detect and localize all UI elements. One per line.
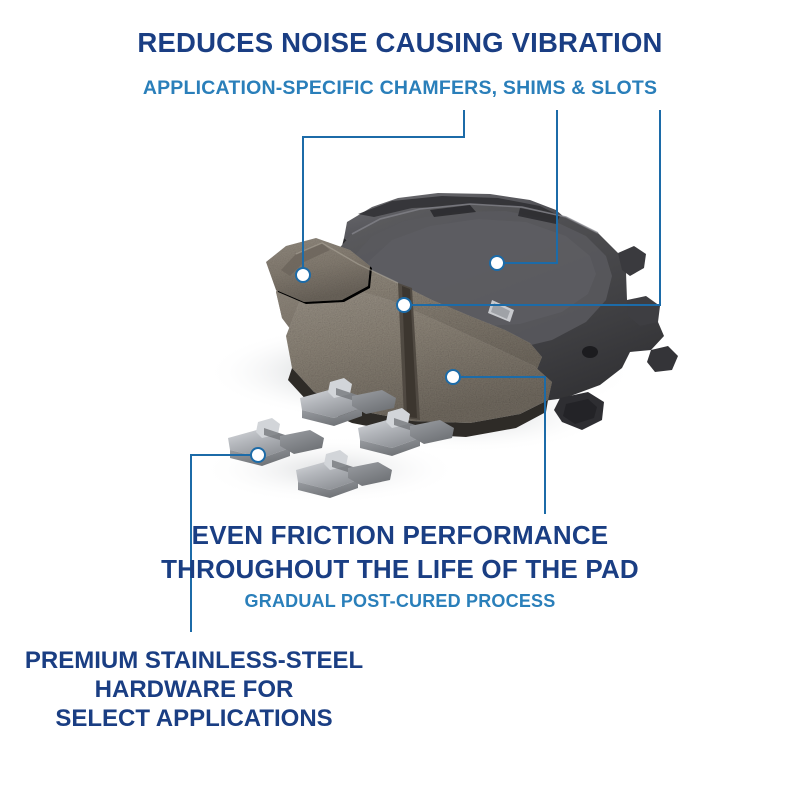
infographic-canvas: REDUCES NOISE CAUSING VIBRATION APPLICAT…	[0, 0, 800, 800]
middle-headline-line1: EVEN FRICTION PERFORMANCE	[0, 522, 800, 550]
bottom-left-line1: PREMIUM STAINLESS-STEEL	[0, 646, 388, 675]
top-subhead: APPLICATION-SPECIFIC CHAMFERS, SHIMS & S…	[0, 78, 800, 99]
top-headline: REDUCES NOISE CAUSING VIBRATION	[0, 28, 800, 57]
middle-headline-line2: THROUGHOUT THE LIFE OF THE PAD	[0, 556, 800, 584]
bottom-left-line3: SELECT APPLICATIONS	[0, 704, 388, 733]
middle-subhead: GRADUAL POST-CURED PROCESS	[0, 592, 800, 611]
bottom-left-line2: HARDWARE FOR	[0, 675, 388, 704]
